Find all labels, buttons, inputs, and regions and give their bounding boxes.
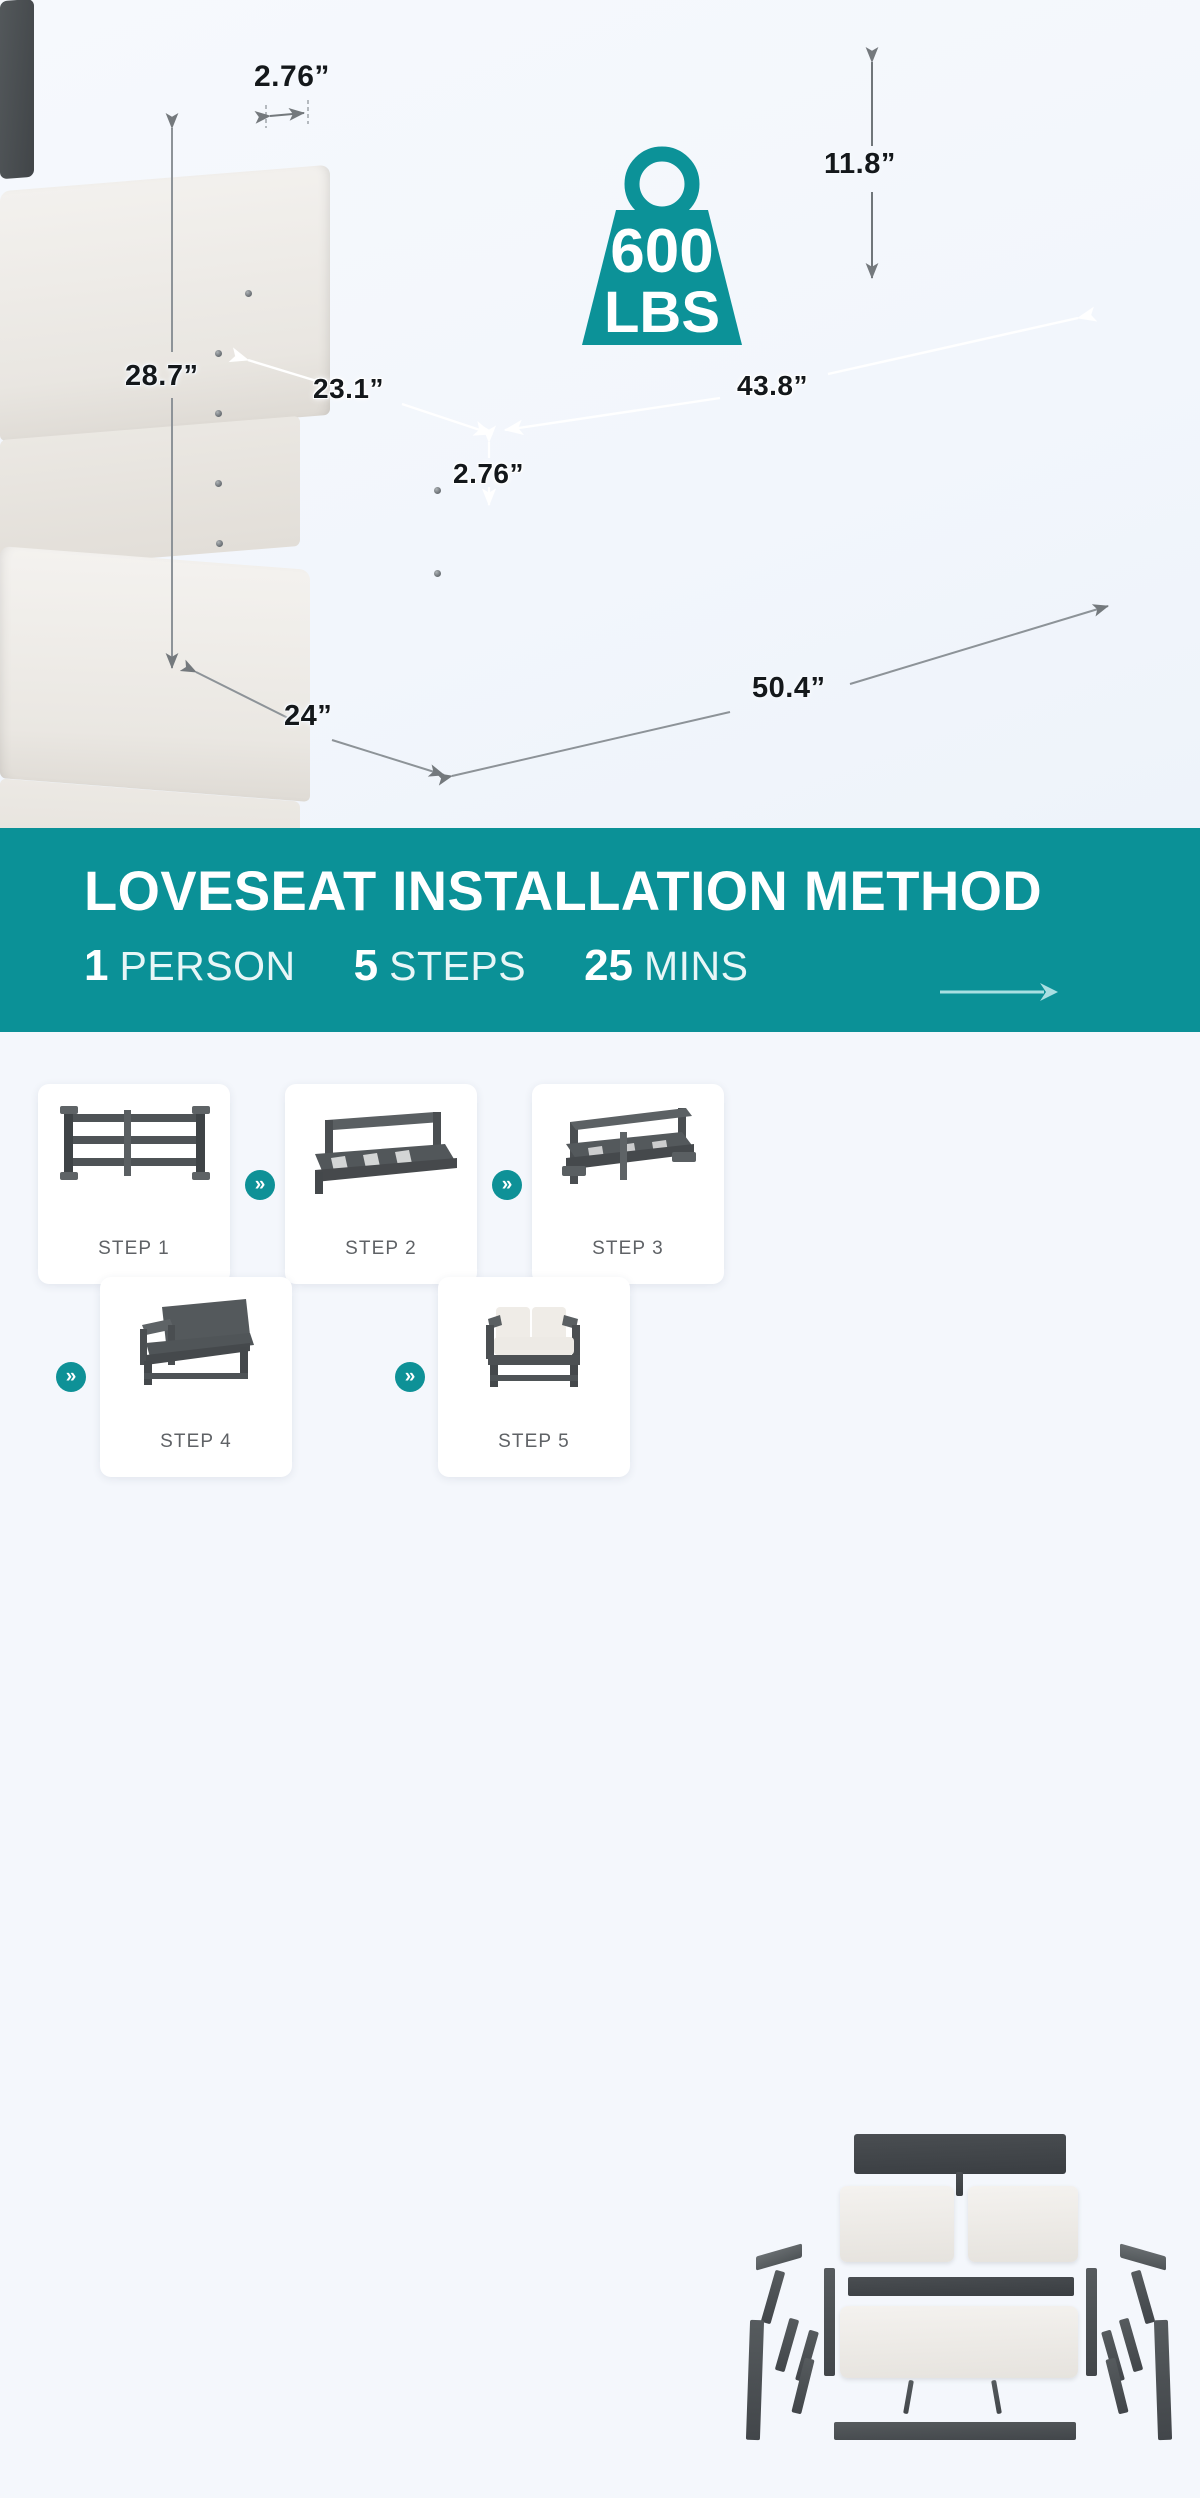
- part-bracket-right: [991, 2380, 1002, 2414]
- part-inner-post-right: [1086, 2268, 1097, 2376]
- part-leg-outer-left: [746, 2320, 764, 2440]
- stat-person-label: PERSON: [119, 946, 295, 987]
- part-slat-right-2: [1119, 2318, 1143, 2373]
- step-4-illustration: [100, 1285, 292, 1400]
- weight-capacity-badge: 600 LBS: [562, 140, 762, 355]
- banner-title: LOVESEAT INSTALLATION METHOD: [84, 863, 1042, 919]
- step-card-3[interactable]: STEP 3: [532, 1084, 724, 1284]
- screw: [434, 570, 441, 577]
- step-chevron-icon-1: »: [245, 1170, 275, 1200]
- step-chevron-icon-3: »: [56, 1362, 86, 1392]
- step-3-illustration: [532, 1092, 724, 1207]
- label-overall-width: 50.4”: [752, 672, 825, 705]
- part-back-cushion-left: [840, 2186, 954, 2262]
- back-cushion-left-lower: [0, 416, 300, 570]
- step-4-label: STEP 4: [100, 1431, 292, 1453]
- step-1-illustration: [38, 1092, 230, 1207]
- stat-mins-label: MINS: [644, 946, 749, 987]
- label-overall-depth: 24”: [284, 700, 332, 733]
- screw: [245, 290, 252, 297]
- weight-unit: LBS: [604, 280, 720, 345]
- step-card-4[interactable]: STEP 4: [100, 1277, 292, 1477]
- screw: [215, 410, 222, 417]
- loveseat-illustration: [0, 0, 1200, 828]
- step-1-label: STEP 1: [38, 1238, 230, 1260]
- dimensions-section: 2.76” 11.8” 28.7” 23.1” 43.8” 2.76” 24” …: [0, 0, 1200, 828]
- part-armrest-left: [756, 2243, 802, 2270]
- back-cushion-right: [0, 546, 310, 802]
- stat-steps-label: STEPS: [389, 946, 526, 987]
- screw: [216, 540, 223, 547]
- step-5-label: STEP 5: [438, 1431, 630, 1453]
- part-leg-outer-right: [1154, 2320, 1172, 2440]
- stat-steps: 5 STEPS: [354, 944, 526, 988]
- screw: [215, 350, 222, 357]
- step-chevron-icon-4: »: [395, 1362, 425, 1392]
- step-2-label: STEP 2: [285, 1238, 477, 1260]
- label-seat-width: 43.8”: [737, 370, 808, 402]
- weight-icon: 600 LBS: [562, 140, 762, 355]
- screw: [215, 480, 222, 487]
- stat-mins: 25 MINS: [584, 944, 748, 988]
- part-bracket-left: [903, 2380, 914, 2414]
- part-bottom-rail: [834, 2422, 1076, 2440]
- step-card-2[interactable]: STEP 2: [285, 1084, 477, 1284]
- part-seat-support-rail: [848, 2277, 1074, 2296]
- step-5-illustration: [438, 1285, 630, 1400]
- label-seat-cushion-thickness: 2.76”: [453, 458, 524, 490]
- part-back-cushion-right: [968, 2186, 1078, 2262]
- step-2-illustration: [285, 1092, 477, 1207]
- screw: [434, 487, 441, 494]
- steps-section: STEP 1 » STEP 2 »: [0, 1032, 1200, 1500]
- label-seat-depth: 23.1”: [313, 373, 384, 405]
- part-backrest-panel: [854, 2134, 1066, 2174]
- part-slat-left-2: [775, 2318, 799, 2373]
- label-overall-height: 28.7”: [125, 360, 198, 393]
- installation-banner: LOVESEAT INSTALLATION METHOD 1 PERSON 5 …: [0, 828, 1200, 1032]
- part-slat-right-1: [1131, 2270, 1155, 2325]
- stat-person: 1 PERSON: [84, 944, 296, 988]
- step-3-label: STEP 3: [532, 1238, 724, 1260]
- part-slat-left-1: [761, 2270, 785, 2325]
- label-back-thickness: 2.76”: [254, 60, 330, 94]
- part-leg-inner-left: [791, 2358, 814, 2415]
- part-leg-inner-right: [1105, 2358, 1128, 2415]
- step-card-1[interactable]: STEP 1: [38, 1084, 230, 1284]
- part-back-center-bracket: [956, 2172, 963, 2196]
- banner-stats: 1 PERSON 5 STEPS 25 MINS: [84, 944, 807, 988]
- exploded-parts-diagram: [738, 2122, 1186, 2498]
- stat-person-number: 1: [84, 944, 108, 988]
- arrow-right-icon: [940, 980, 1060, 1009]
- stat-steps-number: 5: [354, 944, 378, 988]
- label-backrest-height: 11.8”: [824, 148, 896, 181]
- step-chevron-icon-2: »: [492, 1170, 522, 1200]
- back-post: [0, 0, 34, 179]
- stat-mins-number: 25: [584, 944, 633, 988]
- part-seat-cushion: [840, 2306, 1078, 2378]
- back-cushion-left: [0, 165, 330, 442]
- weight-number: 600: [610, 217, 713, 286]
- part-armrest-right: [1120, 2243, 1166, 2270]
- part-inner-post-left: [824, 2268, 835, 2376]
- step-card-5[interactable]: STEP 5: [438, 1277, 630, 1477]
